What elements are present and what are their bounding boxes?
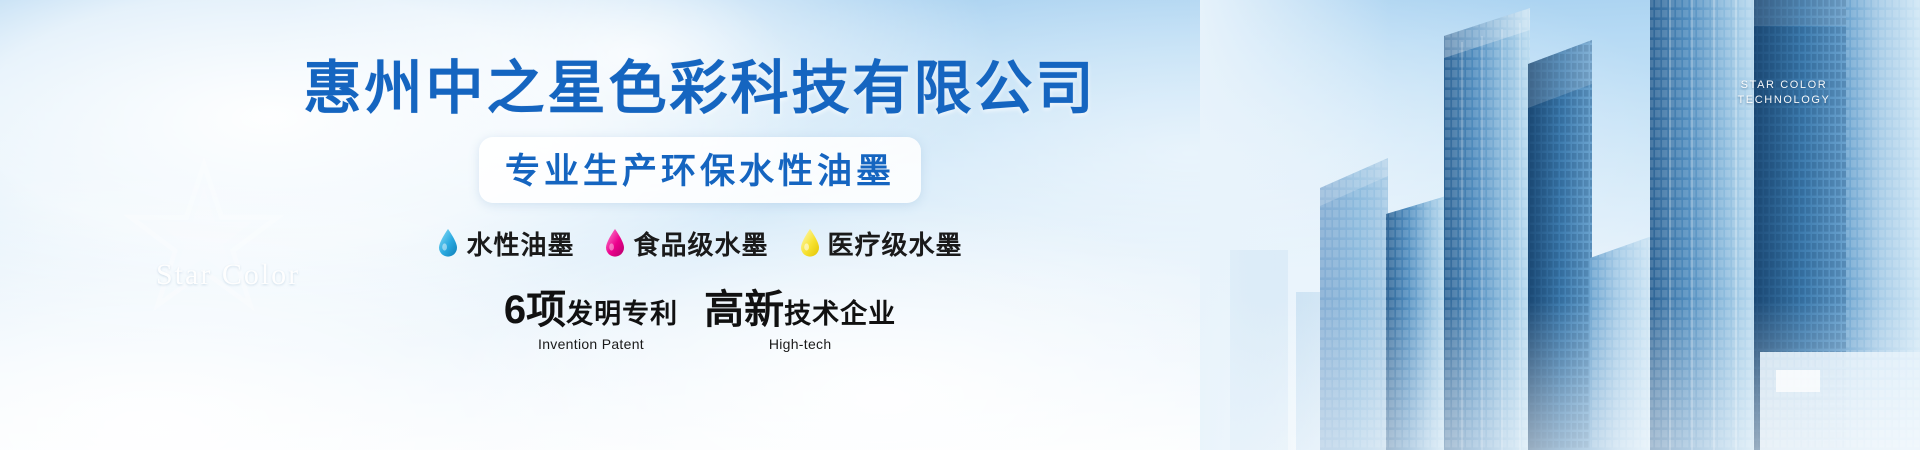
feature-label: 食品级水墨 — [633, 225, 768, 262]
building-brand-line1: STAR COLOR — [1724, 78, 1844, 93]
badge-list: 6项发明专利 Invention Patent 高新技术企业 High-tech — [504, 290, 896, 352]
badge-english-label: Invention Patent — [504, 336, 678, 352]
feature-label: 水性油墨 — [466, 225, 574, 262]
building-brand-label: STAR COLOR TECHNOLOGY — [1724, 78, 1844, 108]
water-drop-icon — [799, 228, 821, 258]
water-drop-icon — [604, 228, 626, 258]
badge-big-text: 6项 — [504, 288, 566, 332]
badge-main: 6项发明专利 — [504, 290, 678, 330]
badge-big-text: 高新 — [704, 288, 784, 332]
promo-banner: Star Color — [0, 0, 1920, 450]
feature-item: 食品级水墨 — [604, 225, 768, 262]
badge-small-text: 发明专利 — [566, 299, 678, 329]
badge-item: 高新技术企业 High-tech — [704, 290, 896, 352]
badge-english-label: High-tech — [704, 336, 896, 352]
feature-item: 医疗级水墨 — [799, 225, 963, 262]
water-drop-icon — [437, 228, 459, 258]
banner-content: 惠州中之星色彩科技有限公司 专业生产环保水性油墨 水性油墨 — [0, 0, 1400, 450]
company-title: 惠州中之星色彩科技有限公司 — [303, 58, 1096, 121]
feature-label: 医疗级水墨 — [828, 225, 963, 262]
feature-item: 水性油墨 — [437, 225, 574, 262]
badge-main: 高新技术企业 — [704, 290, 896, 330]
subtitle-pill: 专业生产环保水性油墨 — [479, 137, 921, 203]
feature-list: 水性油墨 食品级水墨 — [437, 225, 962, 262]
badge-item: 6项发明专利 Invention Patent — [504, 290, 678, 352]
building-brand-line2: TECHNOLOGY — [1724, 93, 1844, 108]
badge-small-text: 技术企业 — [784, 299, 896, 329]
subtitle-text: 专业生产环保水性油墨 — [505, 152, 895, 191]
